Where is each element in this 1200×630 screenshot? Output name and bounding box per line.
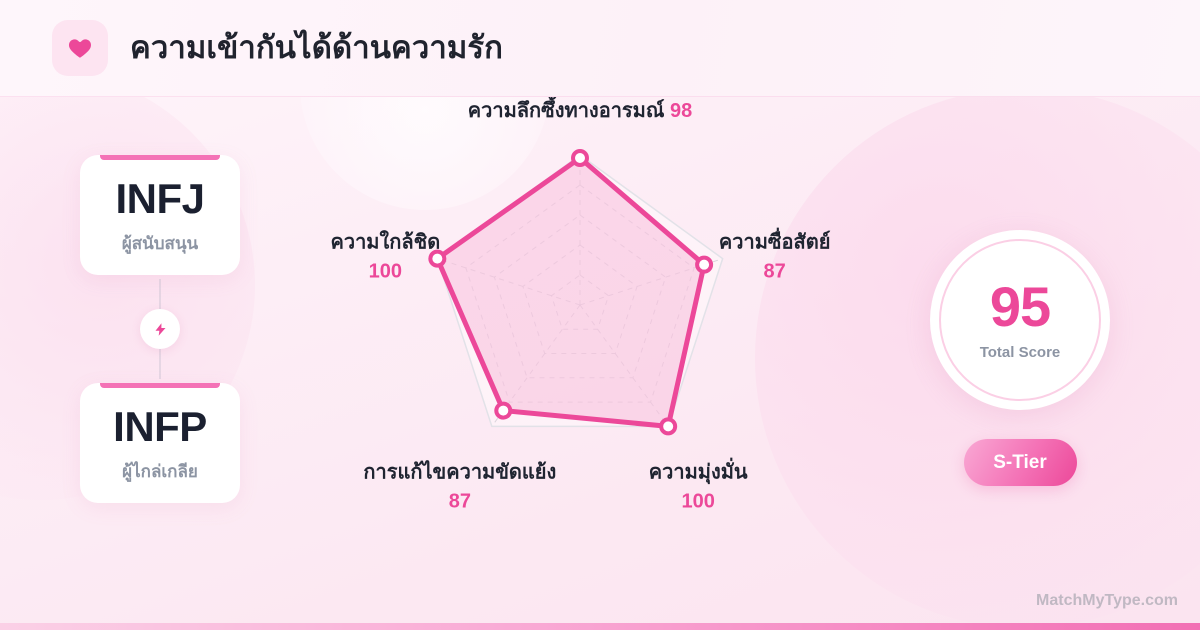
radar-data-point bbox=[496, 404, 510, 418]
type-card-second[interactable]: INFP ผู้ไกล่เกลีย bbox=[80, 383, 240, 503]
radar-axis-value: 87 bbox=[764, 261, 786, 283]
radar-data-area bbox=[437, 158, 704, 426]
radar-data-point bbox=[697, 258, 711, 272]
total-score-label: Total Score bbox=[980, 344, 1061, 361]
radar-data-point bbox=[573, 151, 587, 165]
type-card-first[interactable]: INFJ ผู้สนับสนุน bbox=[80, 155, 240, 275]
radar-axis-label: การแก้ไขความขัดแย้ง bbox=[363, 459, 556, 483]
total-score-value: 95 bbox=[990, 279, 1050, 335]
infographic-canvas: ความเข้ากันได้ด้านความรัก INFJ ผู้สนับสน… bbox=[0, 0, 1200, 630]
type-name-first: ผู้สนับสนุน bbox=[90, 233, 230, 255]
lightning-bolt-icon bbox=[140, 309, 180, 349]
page-title: ความเข้ากันได้ด้านความรัก bbox=[130, 29, 503, 66]
radar-axis-value: 100 bbox=[369, 261, 402, 283]
radar-axis-value: 100 bbox=[681, 490, 714, 512]
type-code-second: INFP bbox=[90, 405, 230, 449]
radar-chart: ความลึกซึ้งทางอารมณ์ 98ความซื่อสัตย์87คว… bbox=[290, 110, 870, 600]
radar-axis-label: ความซื่อสัตย์ bbox=[719, 227, 831, 254]
radar-axis-label: ความมุ่งมั่น bbox=[649, 456, 748, 484]
tier-badge: S-Tier bbox=[964, 439, 1077, 486]
score-panel: 95 Total Score S-Tier bbox=[930, 230, 1110, 486]
total-score-circle: 95 Total Score bbox=[930, 230, 1110, 410]
watermark: MatchMyType.com bbox=[1036, 592, 1178, 610]
page-header: ความเข้ากันได้ด้านความรัก bbox=[0, 0, 1200, 97]
type-pair-column: INFJ ผู้สนับสนุน INFP ผู้ไกล่เกลีย bbox=[80, 155, 240, 503]
radar-chart-svg: ความลึกซึ้งทางอารมณ์ 98ความซื่อสัตย์87คว… bbox=[290, 110, 870, 600]
radar-data-point bbox=[661, 419, 675, 433]
type-code-first: INFJ bbox=[90, 177, 230, 221]
footer-accent-bar bbox=[0, 623, 1200, 630]
radar-axis-value: 87 bbox=[449, 490, 471, 512]
radar-data-point bbox=[430, 252, 444, 266]
heart-icon bbox=[52, 20, 108, 76]
radar-axis-label: ความใกล้ชิด bbox=[330, 230, 440, 254]
type-connector bbox=[80, 275, 240, 383]
radar-axis-label: ความลึกซึ้งทางอารมณ์ 98 bbox=[468, 95, 692, 122]
type-name-second: ผู้ไกล่เกลีย bbox=[90, 461, 230, 483]
